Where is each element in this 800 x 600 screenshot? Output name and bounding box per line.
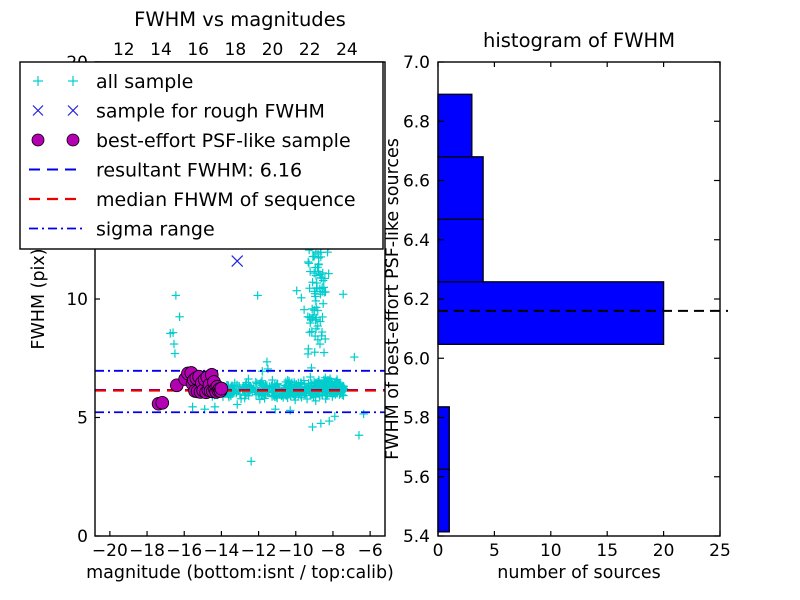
legend-label: all sample <box>96 71 193 93</box>
scatter-point-all <box>317 419 325 427</box>
hist-x-tick-label: 15 <box>596 541 618 561</box>
x-tick-label: −10 <box>278 541 314 561</box>
scatter-point-all <box>286 406 294 414</box>
hist-x-tick-label: 25 <box>709 541 731 561</box>
scatter-legend: all samplesample for rough FWHMbest-effo… <box>20 62 383 249</box>
scatter-point-all <box>188 403 196 411</box>
scatter-point-all <box>211 403 219 411</box>
scatter-point-all <box>171 349 179 357</box>
scatter-point-all <box>350 353 358 361</box>
scatter-point-all <box>308 305 316 313</box>
scatter-xlabel: magnitude (bottom:isnt / top:calib) <box>86 563 394 583</box>
scatter-point-all <box>247 457 255 465</box>
top-x-tick-label: 22 <box>299 40 321 60</box>
scatter-point-all <box>316 340 324 348</box>
scatter-point-all <box>292 287 300 295</box>
scatter-ylabel: FWHM (pix) <box>29 248 49 349</box>
top-x-tick-label: 20 <box>262 40 284 60</box>
figure-canvas: FWHM vs magnitudes−20−18−16−14−12−10−8−6… <box>0 0 800 600</box>
histogram-bar <box>438 157 483 220</box>
x-tick-label: −14 <box>203 541 239 561</box>
scatter-point-all <box>319 299 327 307</box>
y-tick-label: 0 <box>77 527 88 547</box>
legend-label: median FHWM of sequence <box>96 189 356 211</box>
x-tick-label: −18 <box>129 541 165 561</box>
scatter-point-all <box>339 290 347 298</box>
y-tick-label: 10 <box>66 290 88 310</box>
scatter-point-all <box>325 417 333 425</box>
scatter-point-all <box>308 423 316 431</box>
legend-dot-icon <box>32 134 44 146</box>
hist-y-tick-label: 5.4 <box>403 527 430 547</box>
histogram-bar <box>438 407 449 470</box>
legend-label: resultant FWHM: 6.16 <box>96 160 302 182</box>
scatter-bottom-axis: −20−18−16−14−12−10−8−6magnitude (bottom:… <box>86 531 394 583</box>
hist-y-tick-label: 6.8 <box>403 112 430 132</box>
scatter-point-all <box>331 412 339 420</box>
y-tick-label: 5 <box>77 409 88 429</box>
hist-y-tick-label: 6.4 <box>403 231 430 251</box>
histogram-bar <box>438 469 449 532</box>
scatter-point-all <box>305 259 313 267</box>
histogram-bar <box>438 94 472 157</box>
scatter-point-all <box>324 269 332 277</box>
x-tick-label: −20 <box>92 541 128 561</box>
x-tick-label: −8 <box>320 541 345 561</box>
histogram-bars <box>438 94 664 532</box>
hist-y-tick-label: 6.2 <box>403 290 430 310</box>
top-x-tick-label: 18 <box>225 40 247 60</box>
histogram-panel: histogram of FWHM0510152025number of sou… <box>383 29 731 583</box>
scatter-point-psf-like <box>156 396 169 409</box>
scatter-point-all <box>170 340 178 348</box>
scatter-point-all <box>320 348 328 356</box>
scatter-point-all <box>300 305 308 313</box>
hist-x-tick-label: 20 <box>653 541 675 561</box>
scatter-point-all <box>253 291 261 299</box>
hist-y-tick-label: 6.6 <box>403 172 430 192</box>
legend-label: sample for rough FWHM <box>96 101 325 123</box>
histogram-title: histogram of FWHM <box>483 29 675 52</box>
x-tick-label: −16 <box>166 541 202 561</box>
x-tick-label: −6 <box>358 541 383 561</box>
top-x-tick-label: 14 <box>150 40 172 60</box>
scatter-point-all <box>304 258 312 266</box>
hist-y-tick-label: 7.0 <box>403 53 430 73</box>
scatter-point-all <box>355 431 363 439</box>
scatter-point-psf-like <box>215 382 228 395</box>
histogram-bar <box>438 219 483 282</box>
hist-x-tick-label: 5 <box>489 541 500 561</box>
hist-y-tick-label: 5.6 <box>403 468 430 488</box>
hist-x-tick-label: 10 <box>540 541 562 561</box>
hist-y-tick-label: 5.8 <box>403 409 430 429</box>
hist-x-tick-label: 0 <box>433 541 444 561</box>
hist-y-tick-label: 6.0 <box>403 349 430 369</box>
scatter-point-all <box>233 400 241 408</box>
histogram-bar <box>438 282 664 345</box>
histogram-ylabel: FWHM of best-effort PSF-like sources <box>383 138 403 460</box>
matplotlib-figure: FWHM vs magnitudes−20−18−16−14−12−10−8−6… <box>0 0 800 600</box>
scatter-point-all <box>359 410 367 418</box>
scatter-point-all <box>175 313 183 321</box>
scatter-point-rough <box>232 256 243 267</box>
legend-label: sigma range <box>96 219 215 241</box>
scatter-point-all <box>306 267 314 275</box>
legend-dot-icon <box>67 134 79 146</box>
scatter-point-all <box>297 294 305 302</box>
histogram-xlabel: number of sources <box>497 563 661 583</box>
legend-label: best-effort PSF-like sample <box>96 130 351 152</box>
top-x-tick-label: 24 <box>336 40 358 60</box>
scatter-title: FWHM vs magnitudes <box>134 8 346 31</box>
top-x-tick-label: 12 <box>113 40 135 60</box>
x-tick-label: −12 <box>241 541 277 561</box>
scatter-point-all <box>263 358 271 366</box>
top-x-tick-label: 16 <box>187 40 209 60</box>
scatter-point-all <box>172 291 180 299</box>
